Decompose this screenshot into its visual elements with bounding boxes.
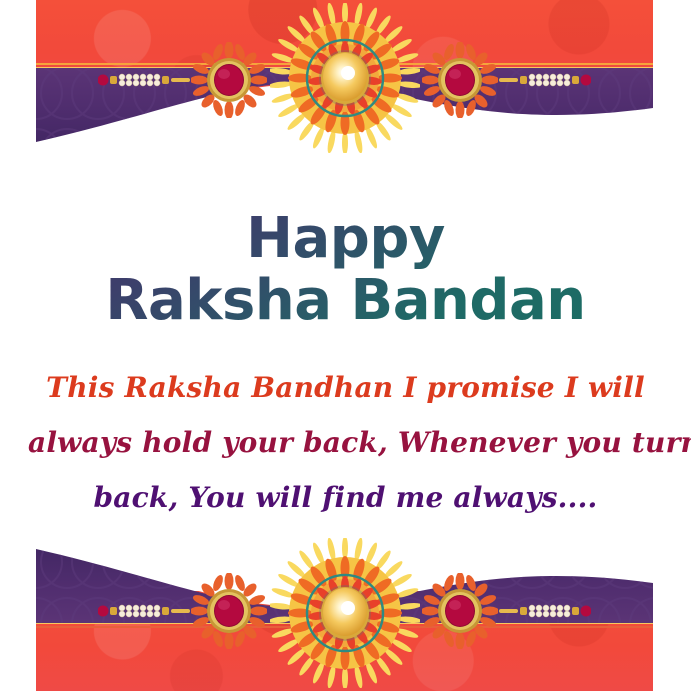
card-content: Happy Raksha Bandan This Raksha Bandhan … [0,180,691,530]
pearl-bead-strand [98,603,190,619]
heading-line-1: Happy [0,180,691,270]
rakhi-flower-ornament [191,573,267,649]
page-title: Happy Raksha Bandan [0,180,691,332]
message-line-2: always hold your back, Whenever you turn [0,415,691,470]
pearl-bead-strand [499,72,591,88]
message-line-3: back, You will find me always.... [0,470,691,525]
heading-line-2: Raksha Bandan [0,270,691,332]
central-rakhi-medallion [270,538,420,688]
top-border-decoration [36,0,653,160]
greeting-card: Happy Raksha Bandan This Raksha Bandhan … [0,0,691,691]
pearl-bead-strand [499,603,591,619]
message-line-1: This Raksha Bandhan I promise I will [0,360,691,415]
central-rakhi-medallion [270,3,420,153]
message-block: This Raksha Bandhan I promise I will alw… [0,360,691,525]
rakhi-flower-ornament [422,573,498,649]
pearl-bead-strand [98,72,190,88]
rakhi-flower-ornament [422,42,498,118]
bottom-border-decoration [36,531,653,691]
rakhi-flower-ornament [191,42,267,118]
